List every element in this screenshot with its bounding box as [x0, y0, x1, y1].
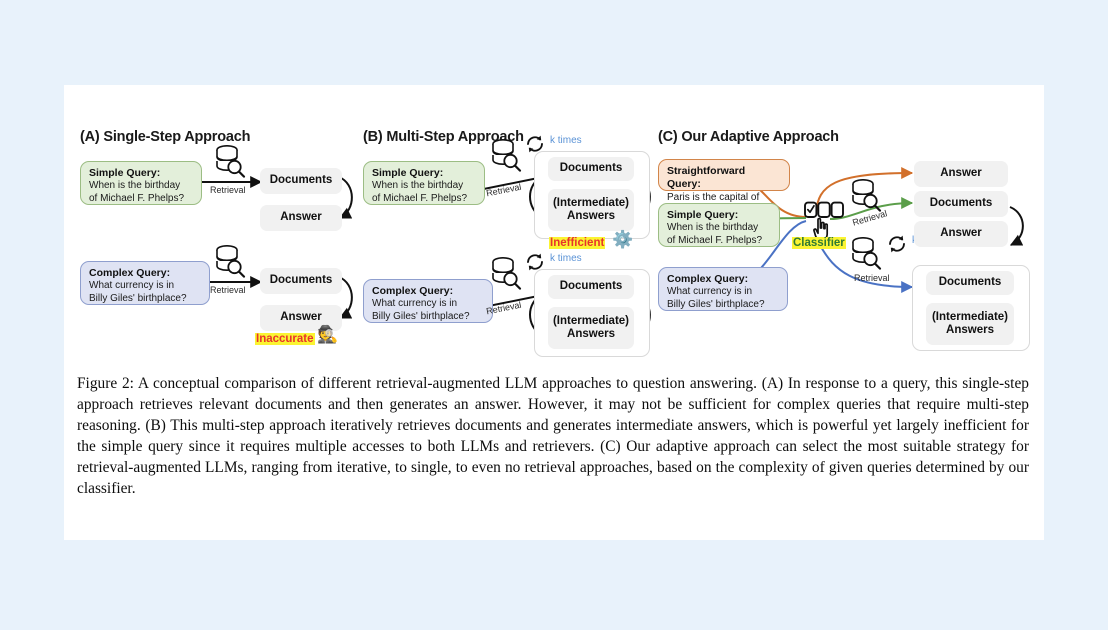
- edge-label-retrieval: Retrieval: [210, 185, 246, 195]
- edge-label-retrieval: Retrieval: [854, 273, 890, 283]
- query-title: Straightforward Query:: [667, 165, 781, 192]
- retrieval-database-icon: [212, 243, 248, 286]
- chip-intermediate-answers: (Intermediate) Answers: [548, 189, 634, 231]
- query-line: Billy Giles' birthplace?: [667, 299, 779, 312]
- chip-intermediate-answers: (Intermediate) Answers: [548, 307, 634, 349]
- page-root: (A) Single-Step Approach Simple Query: W…: [0, 0, 1108, 630]
- chip-line-intermediate: (Intermediate): [553, 315, 629, 328]
- panel-title-c: (C) Our Adaptive Approach: [658, 129, 839, 145]
- edge-label-retrieval: Retrieval: [210, 285, 246, 295]
- chip-documents: Documents: [914, 191, 1008, 217]
- query-box-complex-b: Complex Query: What currency is in Billy…: [363, 279, 493, 323]
- query-line: Billy Giles' birthplace?: [89, 293, 201, 306]
- chip-line-answers: Answers: [567, 210, 615, 223]
- query-box-simple-b: Simple Query: When is the birthday of Mi…: [363, 161, 485, 205]
- query-line: of Michael F. Phelps?: [667, 235, 771, 248]
- retrieval-database-icon: [488, 137, 524, 180]
- chip-documents: Documents: [260, 168, 342, 194]
- chip-intermediate-answers: (Intermediate) Answers: [926, 303, 1014, 345]
- query-title: Simple Query:: [372, 167, 476, 180]
- retrieval-database-icon: [848, 235, 884, 278]
- figure-canvas: (A) Single-Step Approach Simple Query: W…: [64, 85, 1044, 367]
- loop-label-k-times: k times: [550, 135, 582, 146]
- chip-line-answers: Answers: [946, 324, 994, 337]
- figure-card: (A) Single-Step Approach Simple Query: W…: [64, 85, 1044, 540]
- chip-line-intermediate: (Intermediate): [932, 311, 1008, 324]
- query-title: Complex Query:: [667, 273, 779, 286]
- query-line: What currency is in: [667, 286, 779, 299]
- query-line: What currency is in: [89, 280, 201, 293]
- query-box-simple-a: Simple Query: When is the birthday of Mi…: [80, 161, 202, 205]
- flag-inaccurate: Inaccurate: [255, 333, 315, 345]
- loop-label-k-times: k times: [550, 253, 582, 264]
- chip-documents: Documents: [548, 275, 634, 299]
- query-box-straightforward-c: Straightforward Query: Paris is the capi…: [658, 159, 790, 191]
- chip-documents: Documents: [926, 271, 1014, 295]
- loop-refresh-icon: [886, 233, 908, 260]
- query-line: When is the birthday: [667, 222, 771, 235]
- query-line: When is the birthday: [372, 180, 476, 193]
- chip-line-intermediate: (Intermediate): [553, 197, 629, 210]
- query-box-complex-c: Complex Query: What currency is in Billy…: [658, 267, 788, 311]
- query-title: Simple Query:: [89, 167, 193, 180]
- query-title: Complex Query:: [89, 267, 201, 280]
- detective-icon: 🕵️: [317, 326, 338, 343]
- query-title: Complex Query:: [372, 285, 484, 298]
- retrieval-database-icon: [212, 143, 248, 186]
- query-line: Billy Giles' birthplace?: [372, 311, 484, 324]
- retrieval-database-icon: [488, 255, 524, 298]
- figure-caption-label: Figure 2:: [77, 375, 134, 392]
- chip-documents: Documents: [548, 157, 634, 181]
- query-box-complex-a: Complex Query: What currency is in Billy…: [80, 261, 210, 305]
- figure-caption-text: A conceptual comparison of different ret…: [77, 375, 1029, 497]
- chip-line-answers: Answers: [567, 328, 615, 341]
- query-line: When is the birthday: [89, 180, 193, 193]
- query-title: Simple Query:: [667, 209, 771, 222]
- query-line: of Michael F. Phelps?: [372, 193, 476, 206]
- flag-inefficient: Inefficient: [549, 237, 605, 249]
- chip-answer-no-retrieval: Answer: [914, 161, 1008, 187]
- query-line: What currency is in: [372, 298, 484, 311]
- classifier-label: Classifier: [792, 237, 846, 249]
- figure-caption: Figure 2: A conceptual comparison of dif…: [77, 373, 1029, 499]
- chip-answer: Answer: [914, 221, 1008, 247]
- chip-documents: Documents: [260, 268, 342, 294]
- gear-warning-icon: ⚙️: [612, 231, 633, 248]
- query-box-simple-c: Simple Query: When is the birthday of Mi…: [658, 203, 780, 247]
- query-line: of Michael F. Phelps?: [89, 193, 193, 206]
- edge-label-retrieval: Retrieval: [485, 182, 522, 199]
- chip-answer: Answer: [260, 205, 342, 231]
